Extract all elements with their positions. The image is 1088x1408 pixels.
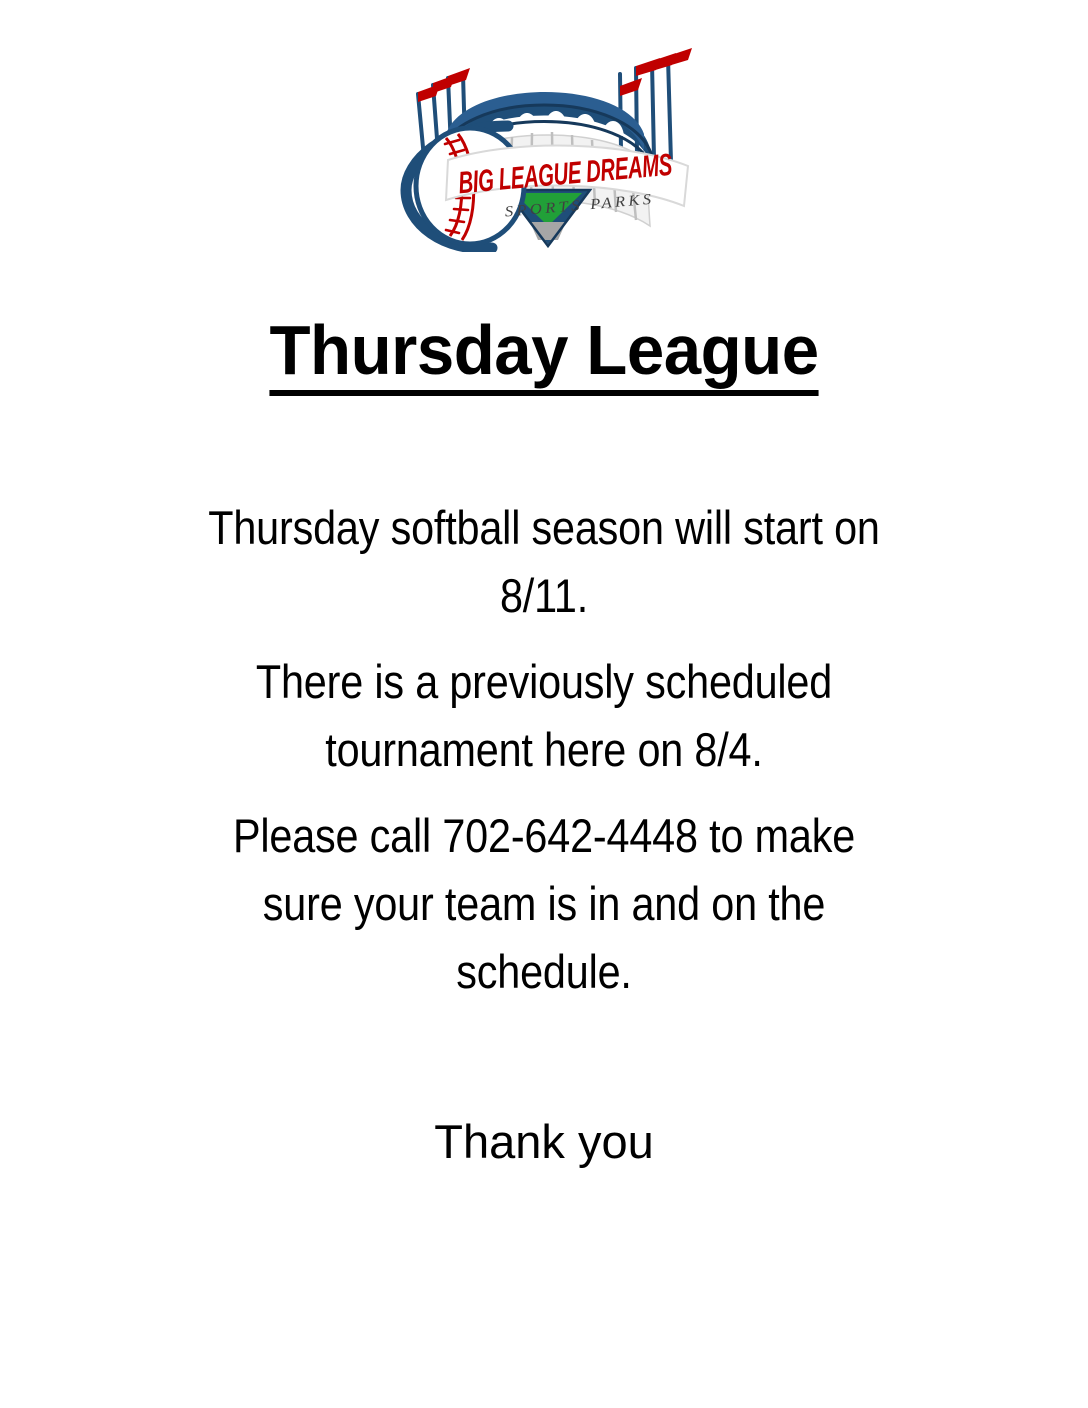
closing-line: Thank you — [144, 1108, 944, 1176]
paragraph-tournament-notice: There is a previously scheduled tourname… — [192, 648, 896, 784]
flyer-page: BIG LEAGUE DREAMS SPORTS PARKS Thursday … — [0, 0, 1088, 1408]
paragraph-call-to-action: Please call 702-642-4448 to make sure yo… — [192, 802, 896, 1006]
page-title: Thursday League — [269, 314, 818, 396]
body-text-block: Thursday softball season will start on 8… — [144, 494, 944, 1177]
flag-poles-right — [620, 48, 692, 162]
paragraph-season-start: Thursday softball season will start on 8… — [192, 494, 896, 630]
big-league-dreams-logo: BIG LEAGUE DREAMS SPORTS PARKS — [388, 30, 700, 252]
